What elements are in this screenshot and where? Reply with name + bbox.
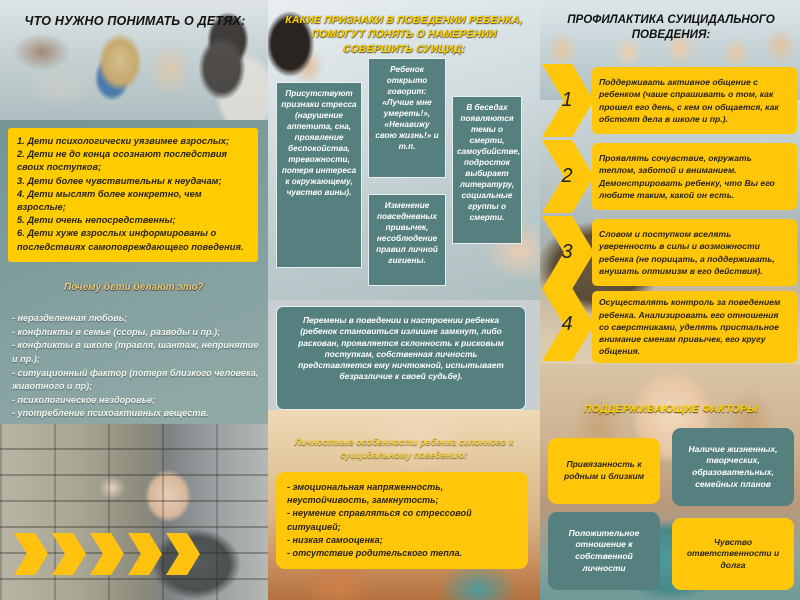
why-children-do-this-heading: Почему дети делают это? [12,282,256,293]
right-column-title: ПРОФИЛАКТИКА СУИЦИДАЛЬНОГО ПОВЕДЕНИЯ: [546,12,796,43]
personal-traits-heading: Личностные особенности ребенка склонного… [280,436,528,461]
reasons-list: - неразделенная любовь; - конфликты в се… [12,312,260,421]
prevention-step-1: 1 Поддерживать активное общение с ребенк… [540,64,800,137]
middle-column: КАКИЕ ПРИЗНАКИ В ПОВЕДЕНИИ РЕБЕНКА, ПОМО… [268,0,540,600]
supporting-factor-plans: Наличие жизненных, творческих, образоват… [672,428,794,506]
chevron-arrow-icon [90,533,124,575]
step-text: Словом и поступком вселять уверенность в… [592,219,797,286]
supporting-factors-heading: ПОДДЕРЖИВАЮЩИЕ ФАКТОРЫ [546,404,796,415]
personal-traits-box: - эмоциональная напряженность, неустойчи… [276,472,528,569]
left-column: ЧТО НУЖНО ПОНИМАТЬ О ДЕТЯХ: 1. Дети псих… [0,0,268,600]
facts-about-children-box: 1. Дети психологически уязвимее взрослых… [8,128,258,262]
sign-box-says-openly: Ребенок открыто говорит: «Лучше мне умер… [368,58,446,178]
step-text: Поддерживать активное общение с ребенком… [592,67,797,134]
supporting-factor-responsibility: Чувство ответственности и долга [672,518,794,590]
step-text: Осуществлять контроль за поведением ребе… [592,291,797,363]
step-number: 3 [552,216,582,289]
prevention-step-2: 2 Проявлять сочувствие, окружать теплом,… [540,140,800,213]
chevron-arrow-icon [128,533,162,575]
sign-box-habits: Изменение повседневных привычек, несоблю… [368,194,446,286]
step-number: 2 [552,140,582,213]
chevron-arrow-icon [14,533,48,575]
prevention-step-3: 3 Словом и поступком вселять уверенность… [540,216,800,289]
sign-box-stress: Присутствуют признаки стресса (нарушение… [276,82,362,268]
infographic-poster: ЧТО НУЖНО ПОНИМАТЬ О ДЕТЯХ: 1. Дети псих… [0,0,800,600]
step-number: 4 [552,288,582,361]
prevention-step-4: 4 Осуществлять контроль за поведением ре… [540,288,800,361]
chevron-arrow-row [14,533,200,575]
sign-box-behaviour-changes: Перемены в поведении и настроении ребенк… [276,306,526,410]
supporting-factor-attachment: Привязанность к родным и близким [548,438,660,504]
step-number: 1 [552,64,582,137]
left-column-title: ЧТО НУЖНО ПОНИМАТЬ О ДЕТЯХ: [12,14,258,28]
chevron-arrow-icon [166,533,200,575]
supporting-factor-self-attitude: Положительное отношение к собственной ли… [548,512,660,590]
sign-box-death-talks: В беседах появляются темы о смерти, само… [452,96,522,244]
right-column: ПРОФИЛАКТИКА СУИЦИДАЛЬНОГО ПОВЕДЕНИЯ: 1 … [540,0,800,600]
step-text: Проявлять сочувствие, окружать теплом, з… [592,143,797,210]
chevron-arrow-icon [52,533,86,575]
middle-column-title: КАКИЕ ПРИЗНАКИ В ПОВЕДЕНИИ РЕБЕНКА, ПОМО… [276,14,532,57]
